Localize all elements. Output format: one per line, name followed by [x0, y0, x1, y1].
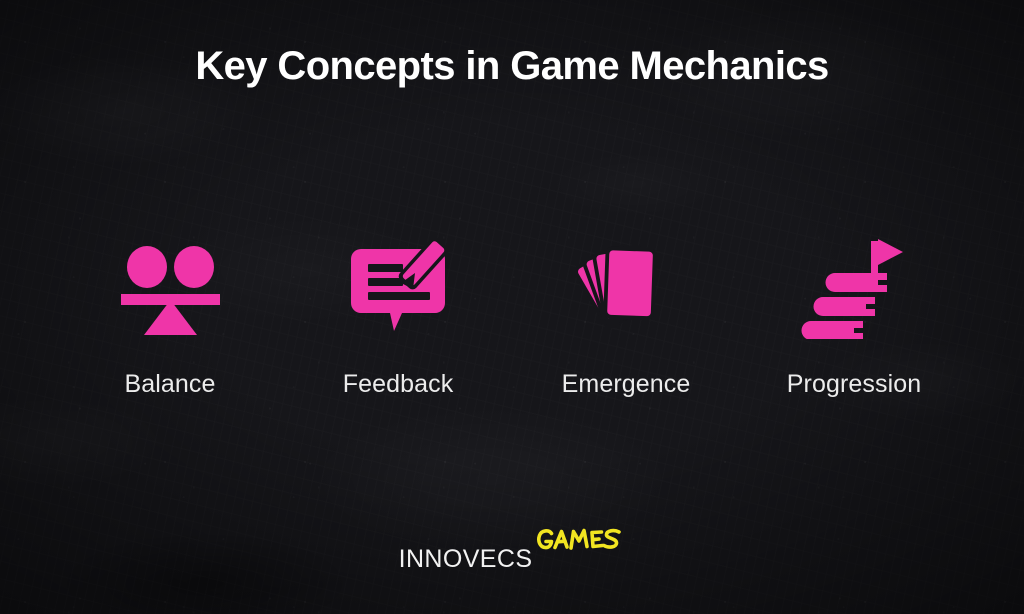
concept-label: Emergence: [562, 370, 691, 399]
brand-logo: INNOVECS: [0, 533, 1024, 574]
concept-item-progression: Progression: [740, 232, 968, 399]
logo-games-wordmark: [533, 524, 625, 563]
page-title: Key Concepts in Game Mechanics: [0, 44, 1024, 89]
concept-item-balance: Balance: [56, 232, 284, 399]
concept-label: Balance: [124, 370, 215, 399]
book-stack-flag-icon: [799, 232, 909, 342]
fanned-cards-icon: [571, 232, 681, 342]
balance-scale-icon: [115, 232, 225, 342]
concept-item-emergence: Emergence: [512, 232, 740, 399]
concept-label: Progression: [787, 370, 922, 399]
speech-bubble-pencil-icon: [343, 232, 453, 342]
infographic-slide: Key Concepts in Game Mechanics Balance: [0, 0, 1024, 614]
concept-item-feedback: Feedback: [284, 232, 512, 399]
concept-label: Feedback: [343, 370, 454, 399]
logo-innovecs-wordmark: INNOVECS: [399, 545, 533, 574]
concepts-row: Balance Fe: [56, 232, 968, 399]
